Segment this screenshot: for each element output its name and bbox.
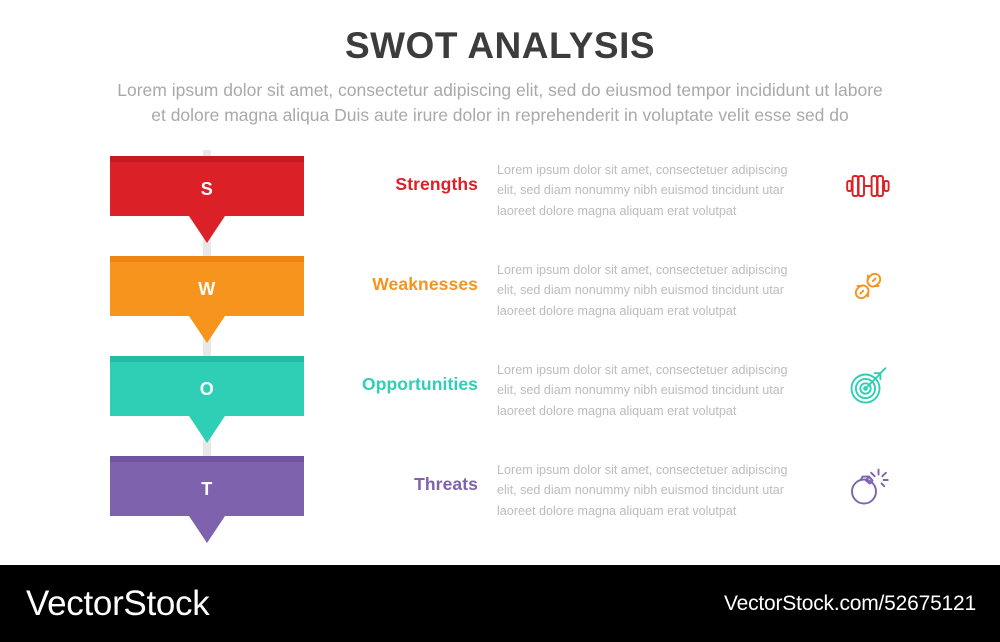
infographic-canvas: SWOT ANALYSIS Lorem ipsum dolor sit amet… bbox=[0, 0, 1000, 642]
footer-url: VectorStock.com/52675121 bbox=[724, 592, 976, 616]
category-label-opportunities: Opportunities bbox=[318, 374, 478, 395]
banner-body: O bbox=[110, 362, 304, 416]
banner-letter: T bbox=[110, 462, 304, 516]
banner-body: W bbox=[110, 262, 304, 316]
banner-strengths[interactable]: S bbox=[110, 156, 304, 216]
banner-opportunities[interactable]: O bbox=[110, 356, 304, 416]
category-label-strengths: Strengths bbox=[318, 174, 478, 195]
page-title: SWOT ANALYSIS bbox=[0, 0, 1000, 67]
banner-letter: S bbox=[110, 162, 304, 216]
swot-row-weaknesses: W Weaknesses Lorem ipsum dolor sit amet,… bbox=[0, 250, 1000, 350]
dumbbell-icon bbox=[840, 158, 896, 214]
bomb-icon bbox=[840, 458, 896, 514]
subtitle: Lorem ipsum dolor sit amet, consectetur … bbox=[45, 67, 955, 129]
target-arrow-icon bbox=[840, 358, 896, 414]
description-threats: Lorem ipsum dolor sit amet, consectetuer… bbox=[497, 460, 809, 521]
header: SWOT ANALYSIS Lorem ipsum dolor sit amet… bbox=[0, 0, 1000, 128]
banner-letter: O bbox=[110, 362, 304, 416]
swot-row-threats: T Threats Lorem ipsum dolor sit amet, co… bbox=[0, 450, 1000, 550]
subtitle-line-1: Lorem ipsum dolor sit amet, consectetur … bbox=[45, 78, 955, 103]
category-label-threats: Threats bbox=[318, 474, 478, 495]
description-strengths: Lorem ipsum dolor sit amet, consectetuer… bbox=[497, 160, 809, 221]
banner-letter: W bbox=[110, 262, 304, 316]
subtitle-line-2: et dolore magna aliqua Duis aute irure d… bbox=[45, 103, 955, 128]
banner-pointer-triangle bbox=[189, 316, 225, 343]
banner-weaknesses[interactable]: W bbox=[110, 256, 304, 316]
footer-brand-logo: VectorStock bbox=[26, 584, 209, 624]
banner-pointer-triangle bbox=[189, 416, 225, 443]
swot-rows: S Strengths Lorem ipsum dolor sit amet, … bbox=[0, 150, 1000, 550]
swot-row-opportunities: O Opportunities Lorem ipsum dolor sit am… bbox=[0, 350, 1000, 450]
swot-row-strengths: S Strengths Lorem ipsum dolor sit amet, … bbox=[0, 150, 1000, 250]
description-opportunities: Lorem ipsum dolor sit amet, consectetuer… bbox=[497, 360, 809, 421]
broken-chain-icon bbox=[840, 258, 896, 314]
banner-body: S bbox=[110, 162, 304, 216]
footer-bar: VectorStock VectorStock.com/52675121 bbox=[0, 565, 1000, 642]
banner-threats[interactable]: T bbox=[110, 456, 304, 516]
banner-pointer-triangle bbox=[189, 216, 225, 243]
description-weaknesses: Lorem ipsum dolor sit amet, consectetuer… bbox=[497, 260, 809, 321]
banner-pointer-triangle bbox=[189, 516, 225, 543]
category-label-weaknesses: Weaknesses bbox=[318, 274, 478, 295]
banner-body: T bbox=[110, 462, 304, 516]
